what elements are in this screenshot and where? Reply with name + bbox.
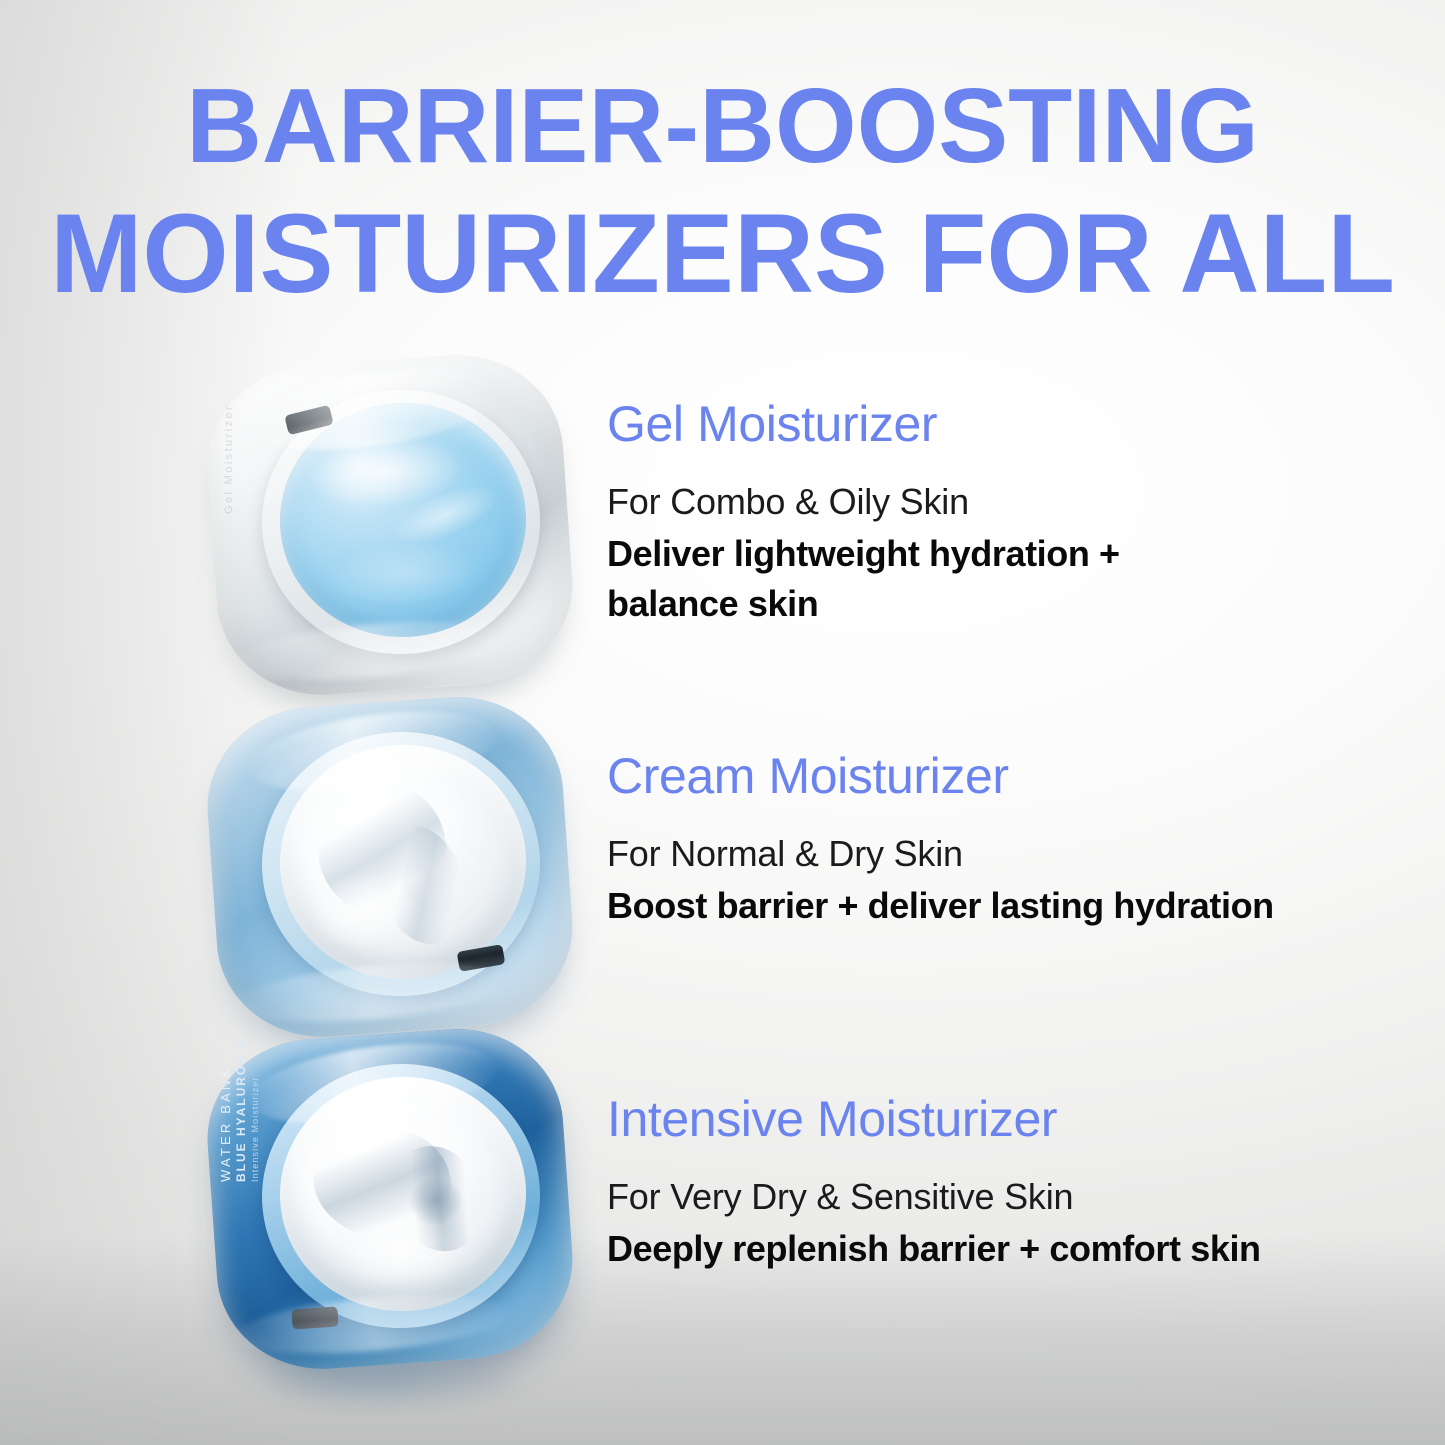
- jar-hinge-tab: [291, 1306, 338, 1329]
- cream-swirl-1: [314, 779, 451, 919]
- product-block-gel: Gel Moisturizer For Combo & Oily Skin De…: [607, 395, 1407, 629]
- jar-surface-reflection: [266, 1352, 518, 1410]
- product-block-cream: Cream Moisturizer For Normal & Dry Skin …: [607, 747, 1407, 931]
- product-skin-type: For Normal & Dry Skin: [607, 829, 1407, 879]
- gel-highlight-2: [384, 474, 505, 555]
- product-benefit: Deeply replenish barrier + comfort skin: [607, 1224, 1407, 1274]
- gel-highlight-3: [331, 539, 477, 610]
- product-benefit: Boost barrier + deliver lasting hydratio…: [607, 881, 1407, 931]
- cream-swirl-2: [375, 1131, 500, 1265]
- product-jar-stack: Gel Moisturizer: [212, 352, 584, 1392]
- product-jar-intensive: WATER BANK BLUE HYALURONIC Intensive Moi…: [212, 1034, 568, 1364]
- product-block-intensive: Intensive Moisturizer For Very Dry & Sen…: [607, 1090, 1407, 1274]
- product-skin-type: For Combo & Oily Skin: [607, 477, 1407, 527]
- page-title: BARRIER-BOOSTING MOISTURIZERS FOR ALL: [0, 62, 1445, 318]
- product-title: Intensive Moisturizer: [607, 1090, 1407, 1148]
- product-jar-gel: Gel Moisturizer: [212, 360, 568, 690]
- cream-swirl-1: [306, 1116, 458, 1247]
- product-benefit: Deliver lightweight hydration + balance …: [607, 529, 1167, 629]
- product-jar-cream: [212, 702, 568, 1032]
- headline-line-1: BARRIER-BOOSTING: [7, 62, 1438, 190]
- product-title: Cream Moisturizer: [607, 747, 1407, 805]
- product-comparison-poster: BARRIER-BOOSTING MOISTURIZERS FOR ALL Ge…: [0, 0, 1445, 1445]
- cream-highlight: [335, 1209, 468, 1293]
- headline-line-2: MOISTURIZERS FOR ALL: [7, 190, 1438, 318]
- product-title: Gel Moisturizer: [607, 395, 1407, 453]
- product-skin-type: For Very Dry & Sensitive Skin: [607, 1172, 1407, 1222]
- cream-highlight: [305, 866, 418, 953]
- gel-highlight-1: [303, 431, 465, 512]
- cream-shadow-pocket: [406, 1176, 463, 1227]
- cream-swirl-2: [363, 813, 480, 955]
